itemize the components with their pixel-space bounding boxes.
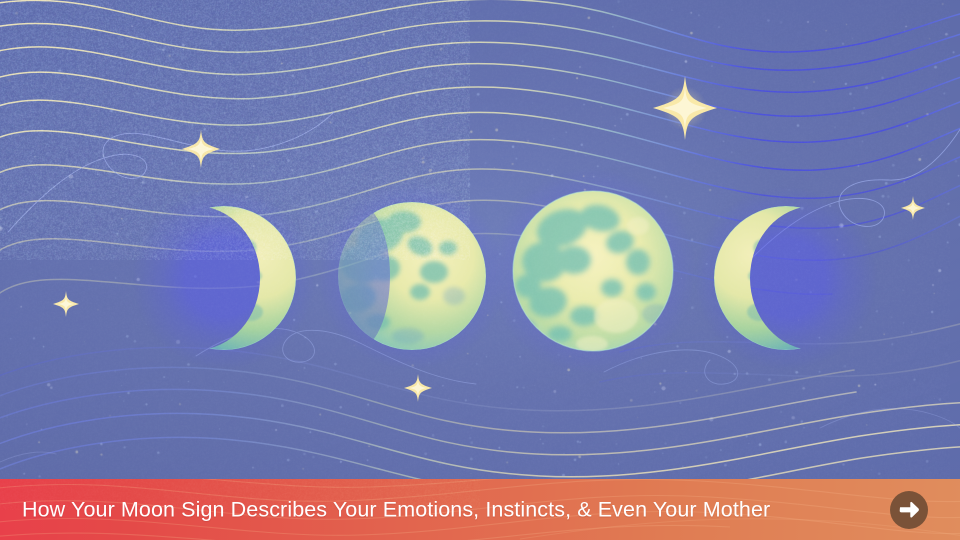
next-slide-button[interactable]	[890, 491, 928, 529]
sky-tint-overlay	[0, 0, 960, 540]
arrow-right-icon	[898, 500, 920, 520]
bottom-title-banner: How Your Moon Sign Describes Your Emotio…	[0, 479, 960, 540]
slide-canvas: How Your Moon Sign Describes Your Emotio…	[0, 0, 960, 540]
slide-title: How Your Moon Sign Describes Your Emotio…	[22, 497, 770, 522]
